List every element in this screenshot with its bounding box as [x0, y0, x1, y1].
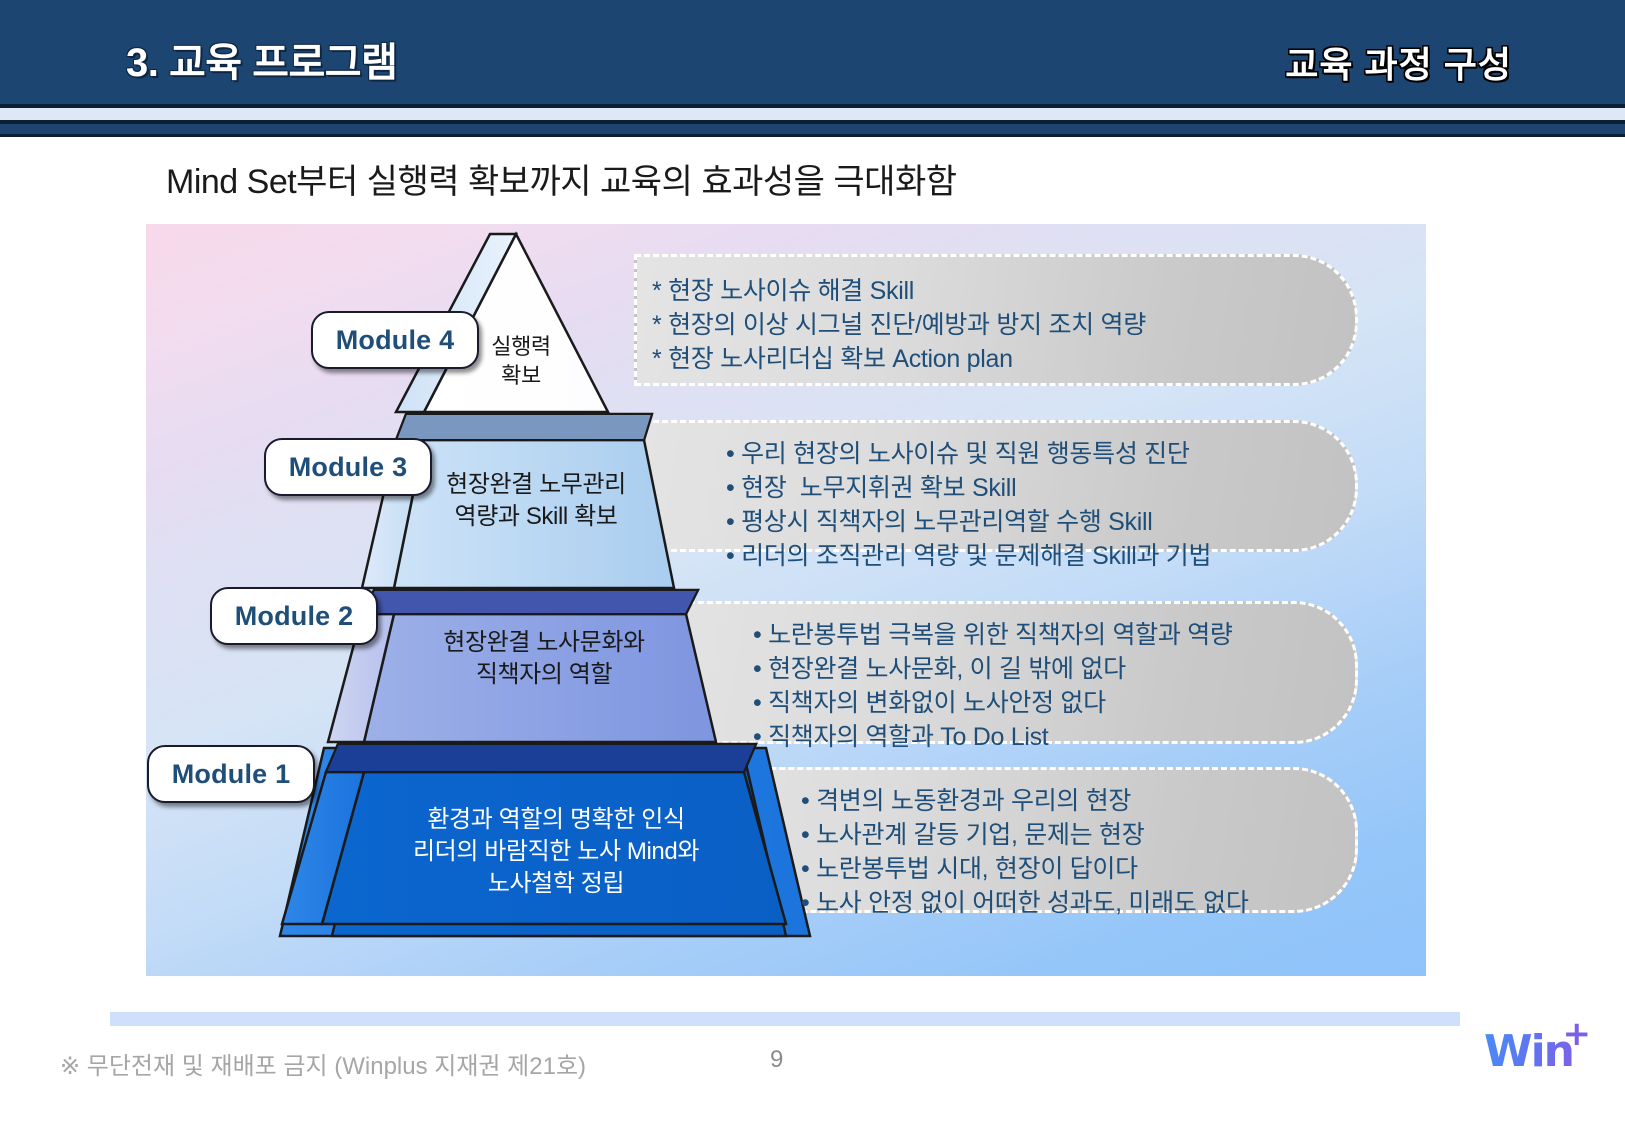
module-pill-4-label: Module 4: [336, 325, 455, 356]
diagram-panel: 실행력 확보 현장완결 노무관리 역량과 Skill 확보 현장완결 노사문화와…: [146, 224, 1426, 976]
tier-title-module-2: 현장완결 노사문화와 직책자의 역할: [414, 627, 674, 691]
callout-text-module-2: • 노란봉투법 극복을 위한 직책자의 역할과 역량 • 현장완결 노사문화, …: [753, 618, 1233, 754]
module-pill-4[interactable]: Module 4: [311, 311, 479, 369]
module-pill-1[interactable]: Module 1: [147, 745, 315, 803]
tier-title-module-1: 환경과 역할의 명확한 인식 리더의 바람직한 노사 Mind와 노사철학 정립: [386, 804, 726, 900]
winplus-logo: Win: [1484, 1026, 1573, 1077]
slide-root: 3. 교육 프로그램 교육 과정 구성 Mind Set부터 실행력 확보까지 …: [0, 0, 1625, 1125]
module-pill-3[interactable]: Module 3: [264, 438, 432, 496]
page-number: 9: [770, 1046, 783, 1074]
header-divider-light: [0, 108, 1625, 120]
callout-text-module-3: • 우리 현장의 노사이슈 및 직원 행동특성 진단 • 현장 노무지휘권 확보…: [726, 437, 1211, 573]
module-pill-2-label: Module 2: [235, 601, 354, 632]
copyright-note: ※ 무단전재 및 재배포 금지 (Winplus 지재권 제21호): [60, 1046, 586, 1081]
callout-text-module-4: * 현장 노사이슈 해결 Skill * 현장의 이상 시그널 진단/예방과 방…: [652, 274, 1146, 376]
callout-text-module-1: • 격변의 노동환경과 우리의 현장 • 노사관계 갈등 기업, 문제는 현장 …: [801, 784, 1249, 920]
page-title: 3. 교육 프로그램: [126, 30, 397, 88]
tier-title-module-3: 현장완결 노무관리 역량과 Skill 확보: [421, 469, 651, 533]
slide-subtitle: Mind Set부터 실행력 확보까지 교육의 효과성을 극대화함: [166, 154, 957, 203]
footer-accent-bar: [110, 1012, 1460, 1026]
header-divider-navy: [0, 124, 1625, 134]
module-pill-1-label: Module 1: [172, 759, 291, 790]
module-pill-2[interactable]: Module 2: [210, 587, 378, 645]
header-divider-dark-bottom: [0, 134, 1625, 137]
module-pill-3-label: Module 3: [289, 452, 408, 483]
winplus-logo-plus-icon: +: [1563, 1014, 1592, 1054]
section-title: 교육 과정 구성: [1285, 36, 1512, 88]
